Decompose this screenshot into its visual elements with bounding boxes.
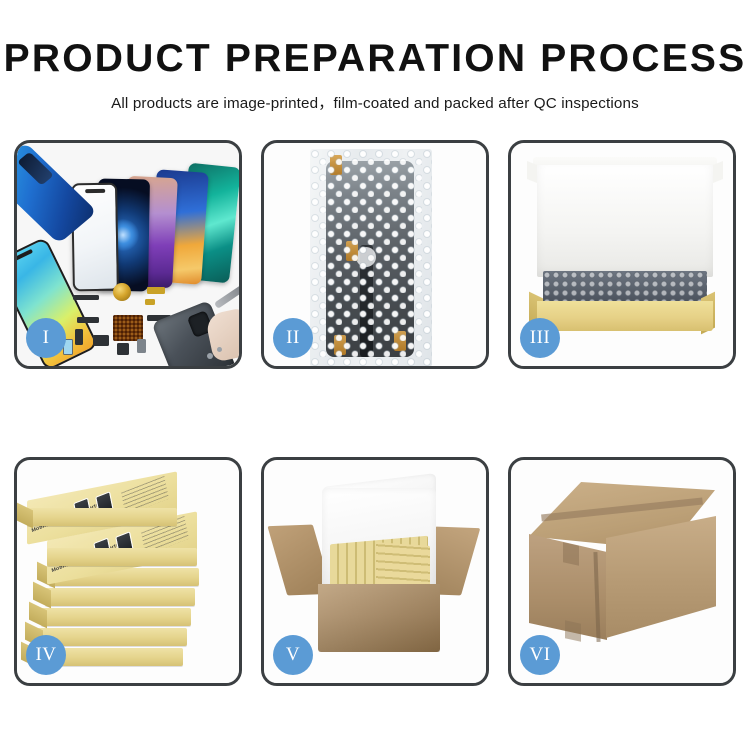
process-step-5: V — [261, 457, 489, 686]
process-step-4: Mobile Phone Spare Parts Mobile Phone Sp… — [14, 457, 242, 686]
connector-grid-part-icon — [113, 315, 143, 341]
header: PRODUCT PREPARATION PROCESS All products… — [0, 0, 750, 113]
step-badge-5: V — [273, 635, 313, 675]
carton-tab-icon — [565, 620, 581, 641]
retail-box-edge — [41, 608, 191, 626]
camera-module-part-icon — [93, 335, 109, 346]
step-badge-2: II — [273, 318, 313, 358]
bubble-wrapped-contents-icon — [543, 271, 707, 303]
process-step-6: VI — [508, 457, 736, 686]
bubble-wrap-bag-illustration — [310, 149, 432, 366]
process-step-3: III — [508, 140, 736, 369]
product-preparation-infographic: PRODUCT PREPARATION PROCESS All products… — [0, 0, 750, 750]
button-part-icon — [117, 343, 129, 355]
bubble-texture-icon — [310, 149, 432, 366]
step-badge-3: III — [520, 318, 560, 358]
inner-box-front-panel-icon — [537, 301, 713, 331]
inner-box-back-wall-icon — [537, 165, 713, 277]
page-title: PRODUCT PREPARATION PROCESS — [0, 38, 750, 80]
carton-body-icon — [318, 584, 440, 652]
step-badge-6: VI — [520, 635, 560, 675]
process-steps-grid: I II — [14, 140, 736, 686]
sim-tray-part-icon — [137, 339, 146, 353]
screwdriver-icon — [214, 284, 239, 309]
packed-retail-boxes-icon — [376, 542, 430, 588]
page-subtitle: All products are image-printed，film-coat… — [0, 91, 750, 113]
screw-part-icon — [217, 347, 222, 352]
speaker-coil-part-icon — [113, 283, 131, 301]
vibrator-part-icon — [75, 329, 83, 345]
retail-box-edge — [45, 588, 195, 606]
process-step-1: I — [14, 140, 242, 369]
gold-clip-part-icon — [145, 299, 155, 305]
step-badge-4: IV — [26, 635, 66, 675]
flex-cable-part-icon — [77, 317, 99, 323]
retail-box-edge — [27, 508, 177, 526]
process-step-2: II — [261, 140, 489, 369]
carton-tab-icon — [563, 542, 579, 565]
antenna-strip-part-icon — [73, 295, 99, 300]
screw-part-icon — [207, 353, 213, 359]
gold-flex-part-icon — [147, 287, 165, 294]
retail-box-edge — [47, 548, 197, 566]
step-badge-1: I — [26, 318, 66, 358]
